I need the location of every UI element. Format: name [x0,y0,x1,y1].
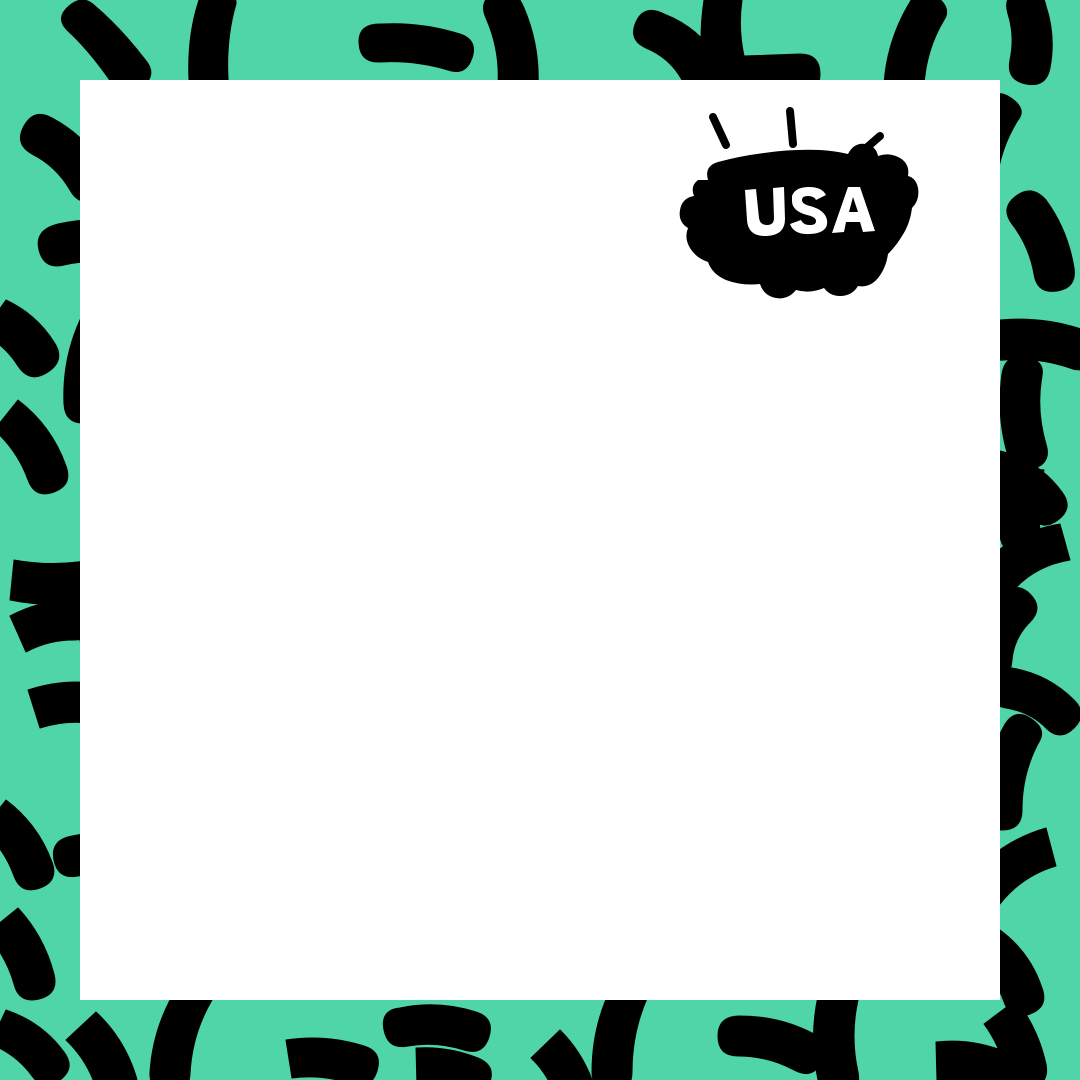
usa-map-icon [675,100,925,310]
poster-canvas: Made in the since day one. [0,0,1080,1080]
